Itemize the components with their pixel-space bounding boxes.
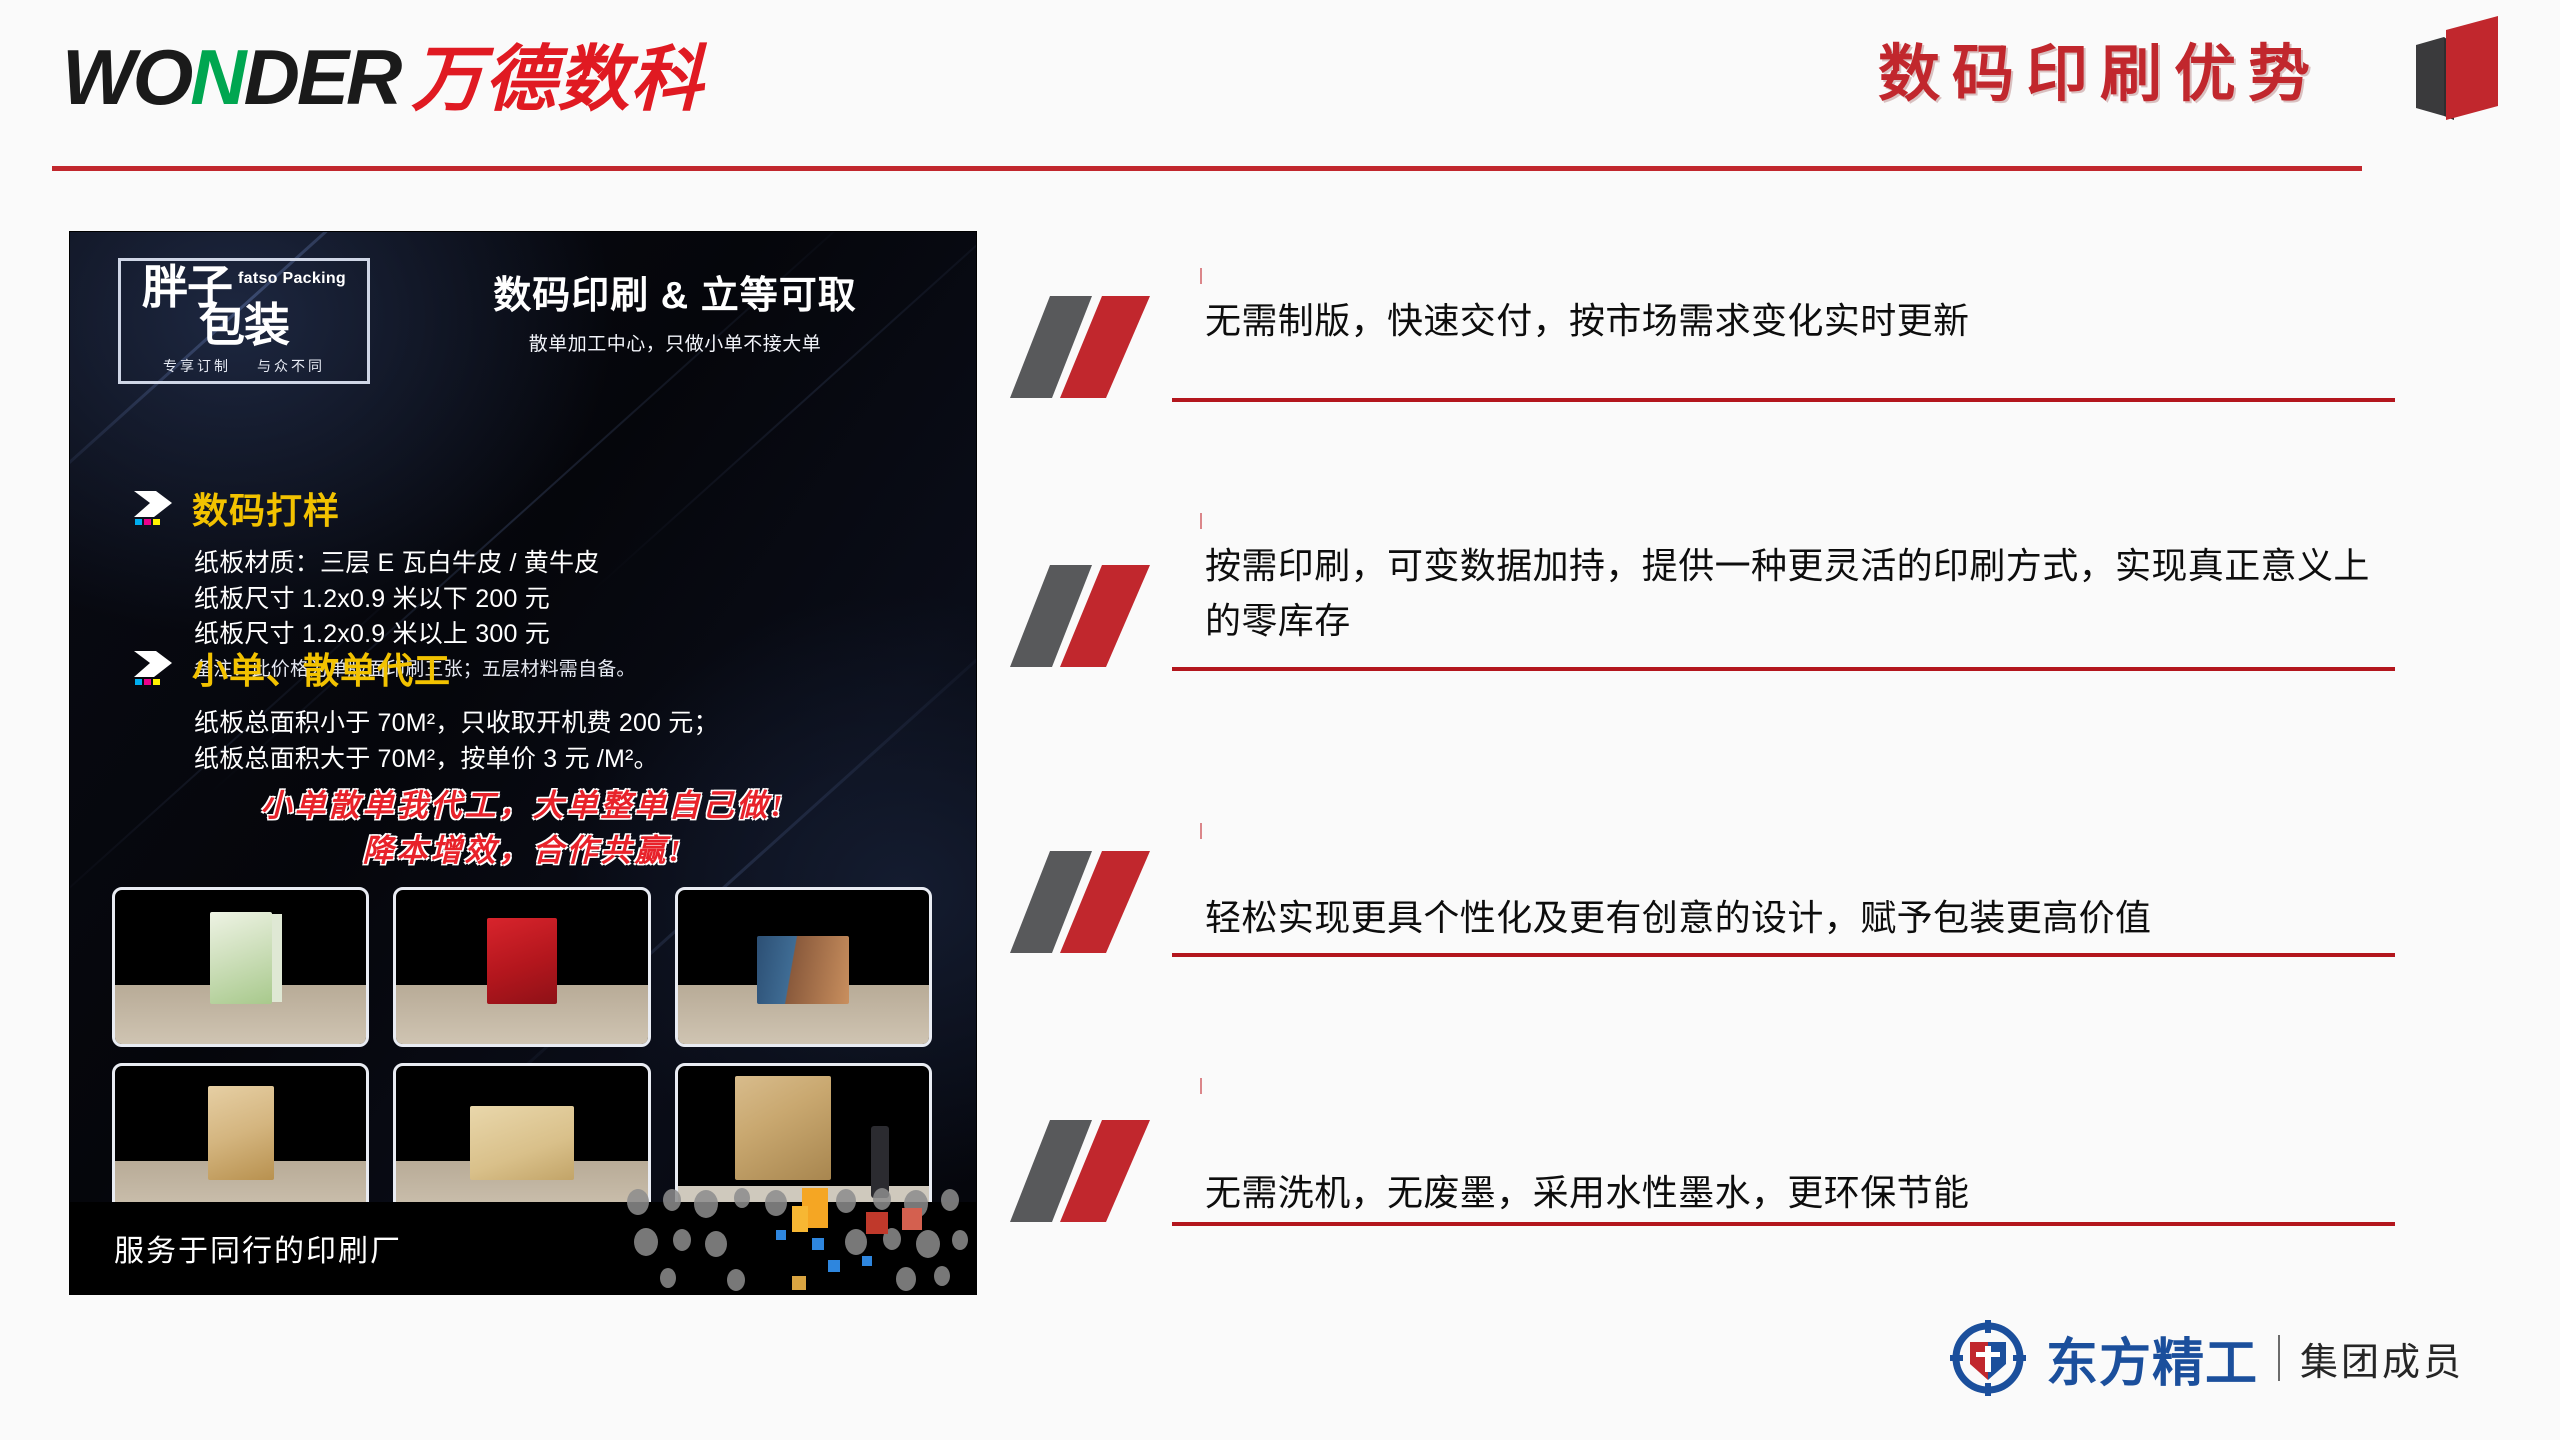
bullet-tick — [1200, 1078, 1202, 1094]
slide-header: W O N DER 万德数科 数码印刷优势 — [0, 0, 2560, 175]
slide-canvas: W O N DER 万德数科 数码印刷优势 胖子 fatso Packing 包… — [0, 0, 2560, 1440]
poster-footer-text: 服务于同行的印刷厂 — [114, 1226, 402, 1270]
double-slash-marker-icon — [1010, 559, 1200, 677]
bullet-tick — [1200, 513, 1202, 529]
footer-company-name: 东方精工 — [2046, 1321, 2258, 1396]
fatso-logo-en: fatso Packing — [238, 270, 346, 288]
promo-poster-image: 胖子 fatso Packing 包装 专享订制 与众不同 数码印刷 & 立等可… — [70, 232, 976, 1294]
fatso-logo-tagline-left: 专享订制 — [163, 356, 231, 376]
wonder-brand-logo: W O N DER 万德数科 — [62, 38, 703, 116]
poster-footer-bar: 服务于同行的印刷厂 — [70, 1202, 976, 1294]
bullet-underline — [1172, 953, 2395, 957]
bullet-underline — [1172, 667, 2395, 671]
poster-headline: 数码印刷 & 立等可取 — [400, 264, 950, 319]
bullet-underline — [1172, 1222, 2395, 1226]
bullet-text: 按需印刷，可变数据加持，提供一种更灵活的印刷方式，实现真正意义上的零库存 — [1205, 539, 2395, 648]
poster-section-line: 纸板材质：三层 E 瓦白牛皮 / 黄牛皮 — [194, 546, 636, 582]
poster-section-line: 纸板总面积小于 70M²，只收取开机费 200 元； — [194, 706, 719, 742]
wonder-letters-der: DER — [244, 38, 400, 116]
chevron-right-icon — [132, 649, 178, 687]
chevron-right-icon — [132, 489, 178, 527]
wonder-letter-n: N — [190, 38, 243, 116]
dongfang-precision-footer-logo: 东方精工 集团成员 — [1950, 1320, 2464, 1396]
book-corner-decoration-icon — [2402, 8, 2512, 123]
product-photo-red-gift-box — [393, 887, 650, 1047]
poster-section-small-order-oem: 小单、散单代工 纸板总面积小于 70M²，只收取开机费 200 元； 纸板总面积… — [132, 642, 719, 777]
poster-slogan-line2: 降本增效，合作共赢! — [70, 829, 976, 874]
dongfang-emblem-icon — [1950, 1320, 2026, 1396]
double-slash-marker-icon — [1010, 290, 1200, 408]
wonder-letter-w: W — [62, 38, 133, 116]
bullet-tick — [1200, 268, 1202, 284]
double-slash-marker-icon — [1010, 1114, 1200, 1232]
bullet-text: 轻松实现更具个性化及更有创意的设计，赋予包装更高价值 — [1205, 891, 2395, 946]
fatso-logo-cn2: 包装 — [199, 304, 289, 348]
bullet-text: 无需洗机，无废墨，采用水性墨水，更环保节能 — [1205, 1166, 2395, 1221]
poster-product-photo-grid — [112, 887, 932, 1223]
poster-section-title: 数码打样 — [192, 482, 340, 534]
product-photo-kraft-handle-box — [112, 1063, 369, 1223]
wonder-letter-o: O — [133, 38, 191, 116]
poster-slogan: 小单散单我代工，大单整单自己做! 降本增效，合作共赢! — [70, 784, 976, 874]
bullet-text: 无需制版，快速交付，按市场需求变化实时更新 — [1205, 294, 2395, 349]
poster-section-line: 纸板尺寸 1.2x0.9 米以下 200 元 — [194, 582, 636, 618]
fatso-logo-tagline-right: 与众不同 — [257, 356, 325, 376]
poster-headline-block: 数码印刷 & 立等可取 散单加工中心，只做小单不接大单 — [400, 264, 950, 356]
header-divider — [52, 166, 2362, 171]
poster-slogan-line1: 小单散单我代工，大单整单自己做! — [70, 784, 976, 829]
fatso-packing-logo: 胖子 fatso Packing 包装 专享订制 与众不同 — [118, 258, 370, 384]
product-photo-honey-gift-box — [112, 887, 369, 1047]
poster-section-title: 小单、散单代工 — [192, 642, 451, 694]
page-title: 数码印刷优势 — [1878, 38, 2322, 112]
wonder-brand-chinese: 万德数科 — [411, 44, 703, 116]
double-slash-marker-icon — [1010, 845, 1200, 963]
poster-section-line: 纸板总面积大于 70M²，按单价 3 元 /M²。 — [194, 742, 719, 778]
bullet-tick — [1200, 823, 1202, 839]
halftone-dot-pattern — [616, 1184, 976, 1294]
footer-member-label: 集团成员 — [2300, 1331, 2464, 1386]
footer-divider — [2278, 1335, 2280, 1381]
product-photo-classic-gift-box-set — [393, 1063, 650, 1223]
bullet-underline — [1172, 398, 2395, 402]
product-photo-beef-dumpling-box — [675, 887, 932, 1047]
poster-subheadline: 散单加工中心，只做小单不接大单 — [400, 329, 950, 356]
